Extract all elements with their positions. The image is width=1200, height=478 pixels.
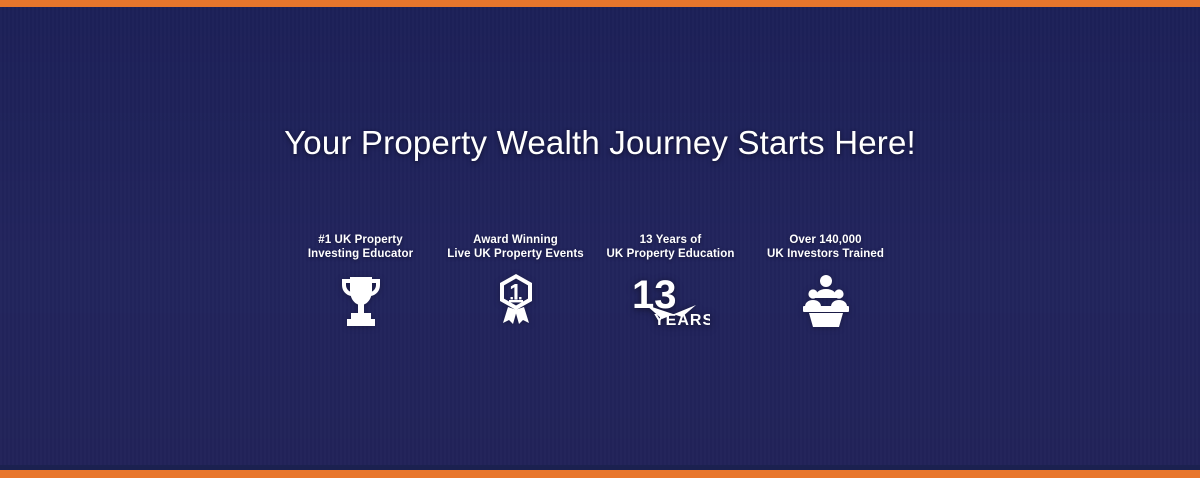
years-anniversary-icon: 13 YEARS [632, 273, 710, 329]
trophy-icon [337, 273, 385, 329]
trust-badge-investors-trained: Over 140,000 UK Investors Trained [748, 234, 903, 329]
speaker-podium-icon [800, 273, 852, 329]
badge-label-line2: UK Property Education [607, 248, 735, 262]
badge-label-line2: Investing Educator [308, 248, 413, 262]
trust-badge-years-education: 13 Years of UK Property Education 13 YEA… [593, 234, 748, 329]
bottom-orange-border [0, 470, 1200, 478]
badge-label-line1: Over 140,000 [767, 234, 884, 248]
award-medal-icon [495, 273, 537, 329]
page-title: Your Property Wealth Journey Starts Here… [0, 124, 1200, 162]
badge-label-line2: UK Investors Trained [767, 248, 884, 262]
badge-label-line1: Award Winning [447, 234, 584, 248]
top-orange-border [0, 0, 1200, 7]
trust-badge-award-winning: Award Winning Live UK Property Events [438, 234, 593, 329]
badge-label-line1: #1 UK Property [308, 234, 413, 248]
years-caption: YEARS [654, 312, 710, 327]
badge-label-line1: 13 Years of [607, 234, 735, 248]
badge-label-line2: Live UK Property Events [447, 248, 584, 262]
hero-banner: Your Property Wealth Journey Starts Here… [0, 0, 1200, 478]
trust-badge-investing-educator: #1 UK Property Investing Educator [283, 234, 438, 329]
trust-badge-row: #1 UK Property Investing Educator [283, 234, 903, 329]
